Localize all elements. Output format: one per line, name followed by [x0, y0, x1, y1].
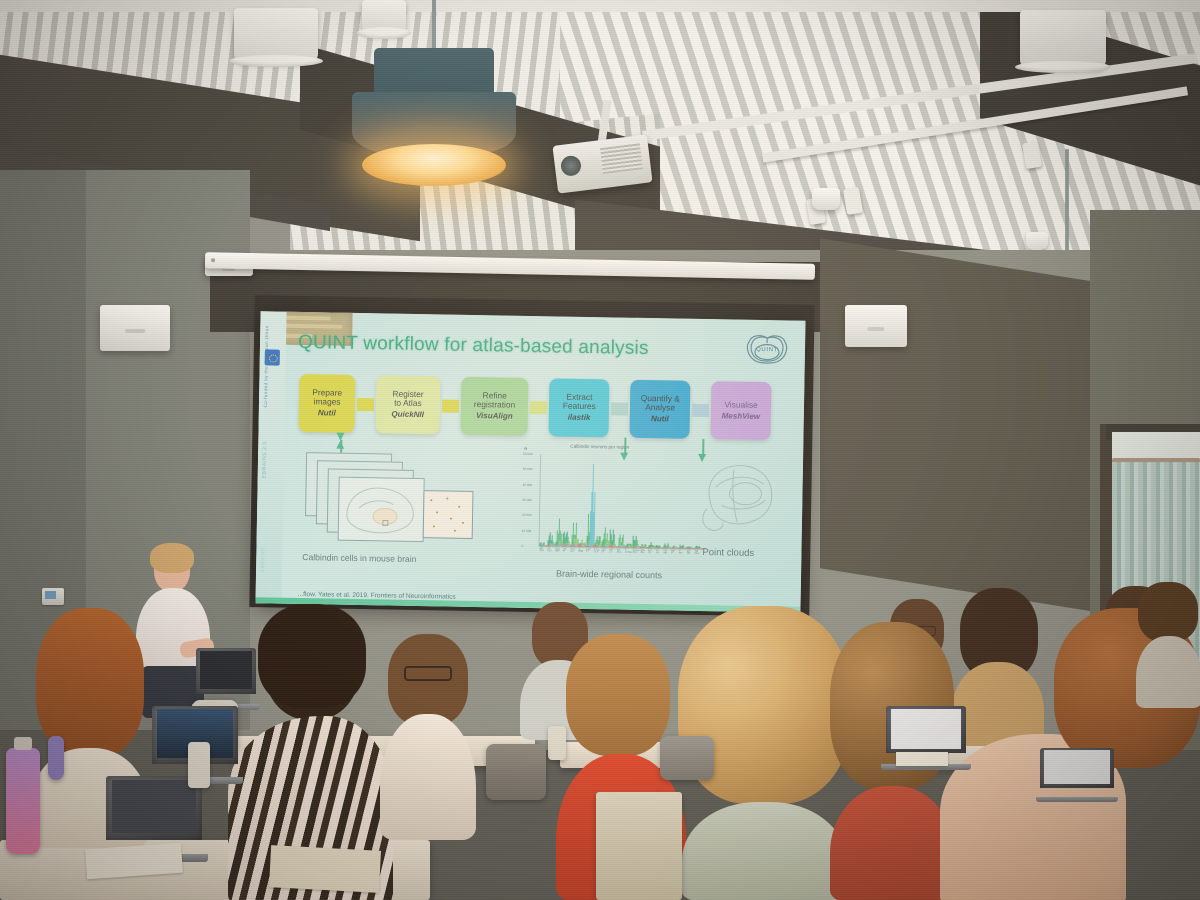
chart-x-tick-label: SSCA1 [547, 548, 552, 552]
workflow-arrow-4 [611, 402, 628, 415]
chart-x-tick-label: THHY [656, 550, 659, 554]
workflow-arrow-2 [442, 399, 459, 412]
pendant-lamp-left [352, 48, 516, 188]
chart-bar [596, 545, 597, 547]
torso [380, 714, 476, 840]
projector-lens [560, 155, 582, 177]
paper-sheet-2 [269, 845, 381, 893]
audience-member-edge-right [1136, 588, 1200, 708]
regional-counts-chart: n Calbindin neurons per region 010 00020… [524, 452, 706, 567]
chair-right [660, 736, 714, 780]
chart-x-tick-label: STRPAL [640, 550, 645, 554]
lamp-glow [362, 144, 506, 186]
right-panel-caption: Point clouds [702, 547, 754, 559]
quint-logo-text: QUINT [743, 347, 791, 354]
chart-bar [558, 546, 559, 547]
wall-dark-side-panel [820, 238, 1120, 616]
left-panel-caption: Calbindin cells in mouse brain [302, 552, 416, 564]
zoom-inset-cells [423, 490, 474, 539]
hair [566, 634, 670, 756]
water-bottle-purple[interactable] [6, 748, 40, 854]
cup-white-2[interactable] [548, 726, 566, 760]
chart-y-tick-label: 0 [522, 544, 524, 548]
chart-x-tick-label: PCTXsp [625, 550, 632, 554]
step-label-line2: images [313, 397, 340, 407]
chart-y-tick-label: 40 000 [523, 483, 533, 487]
chart-title: Calbindin neurons per region [570, 444, 629, 450]
chart-bar [627, 546, 628, 547]
wall-speaker-right [845, 305, 907, 347]
ebrains-brand-text-2: EBRAINS [260, 547, 266, 572]
brain-3d-outline [693, 451, 781, 544]
chart-bar [666, 548, 667, 549]
chart-bar [573, 545, 574, 547]
ceiling-beam-top [0, 0, 1200, 12]
chair-mid [486, 744, 546, 800]
ceiling-downlight-small [362, 0, 406, 34]
chart-x-tick-label: MBP [671, 550, 675, 554]
downlight-rim [357, 27, 411, 39]
audience-member-glasses [380, 640, 476, 840]
ceiling-downlight-far-2 [1026, 232, 1048, 250]
chart-bar [674, 548, 675, 549]
chart-x-tick-label: CTXspSTR [633, 550, 640, 554]
workflow-step-6: VisualiseMeshView [711, 381, 772, 440]
hair [1138, 582, 1198, 642]
projector-vent [600, 143, 643, 174]
chart-bar [635, 547, 636, 548]
workflow-step-3: RefineregistrationVisuAlign [460, 377, 529, 436]
chart-y-tick-label: 50 000 [523, 467, 533, 471]
chart-bar [565, 546, 566, 547]
chart-caption: Brain-wide regional counts [556, 568, 662, 580]
projection-screen: Co-funded by the European Union EBRAINS … [255, 311, 805, 612]
chart-bar [620, 547, 621, 548]
paper-sheet-3 [896, 752, 948, 766]
slide-sidebar: Co-funded by the European Union EBRAINS … [255, 311, 286, 603]
chart-x-tick-label: PALTH [648, 550, 652, 554]
chart-x-tick-label: CBfiber [695, 551, 700, 555]
workflow-diagram: PrepareimagesNutilRegisterto AtlasQuickN… [298, 374, 771, 440]
step-tool-name: VisuAlign [476, 412, 513, 421]
chart-x-tick-label: PMY [679, 551, 683, 555]
chart-x-tick-label: PTLpCLA [594, 549, 600, 553]
chart-bar [658, 548, 659, 549]
ceiling-downlight-left [234, 8, 318, 62]
step-tool-name: Nutil [318, 410, 336, 419]
torso [682, 802, 846, 900]
chart-y-tick-label: 30 000 [522, 498, 532, 502]
workflow-step-4: ExtractFeaturesilastik [549, 378, 610, 437]
chart-x-tick-label: AUDRSP [555, 548, 560, 552]
funding-text: Co-funded by the European Union [263, 325, 269, 407]
step-label-line2: to Atlas [394, 399, 422, 409]
tote-bag [596, 792, 682, 900]
slide-title: QUINT workflow for atlas-based analysis [298, 332, 649, 360]
chart-bar [612, 547, 613, 548]
chart-bar [643, 547, 644, 548]
wall-control-panel[interactable] [42, 588, 64, 605]
hair [258, 604, 366, 708]
laptop-lid [886, 706, 966, 753]
chart-x-tick-label: HYMB [664, 550, 668, 554]
chart-bar [689, 548, 690, 549]
bottle-cap [14, 737, 32, 750]
brain-section-4 [338, 477, 425, 542]
step-tool-name: ilastik [568, 414, 591, 423]
downlight-rim [1015, 61, 1111, 73]
chart-x-tick-label: MYBLA [617, 550, 621, 554]
point-cloud-render [693, 451, 781, 544]
chart-bar [682, 548, 683, 549]
presenter-hair [150, 543, 194, 573]
ceiling-downlight-right [1020, 10, 1106, 68]
chart-bar [589, 546, 590, 547]
presentation-slide: Co-funded by the European Union EBRAINS … [255, 311, 805, 612]
chart-x-tick-label: VISPL [563, 549, 567, 553]
eyeglasses-icon [404, 666, 452, 681]
chart-x-tick-label: AIORB [578, 549, 583, 553]
step-label-line1: Visualise [724, 400, 758, 410]
step-tool-name: MeshView [722, 412, 761, 421]
torso [1136, 636, 1200, 708]
workflow-step-5: Quantify &AnalyseNutil [630, 380, 691, 439]
chart-y-tick-label: 20 000 [522, 513, 532, 517]
torso [830, 786, 954, 900]
water-bottle-small[interactable] [48, 736, 64, 780]
step-label-line2: Features [563, 402, 596, 412]
workflow-arrow-3 [530, 400, 547, 413]
chart-x-tick-label: MBLA [609, 549, 613, 553]
chart-x-tick-label: RSPTT [586, 549, 591, 553]
workflow-arrow-5 [692, 403, 709, 416]
chart-bar [550, 546, 551, 547]
brain-section-stack [305, 452, 457, 545]
ebrains-brand-text: EBRAINS 2.0 [262, 441, 269, 478]
photo-scene: Co-funded by the European Union EBRAINS … [0, 0, 1200, 900]
chart-x-tick-label: MOHPF [539, 548, 544, 552]
laptop-lid [1040, 748, 1114, 788]
lamp-shade-top [374, 48, 494, 96]
chart-bar [604, 546, 605, 547]
chart-bar [651, 547, 652, 548]
step-label-line2: registration [474, 400, 516, 410]
workflow-arrow-1 [357, 397, 374, 410]
chart-x-tick-label: OLFEP [602, 549, 607, 553]
step-label-line2: Analyse [645, 403, 675, 413]
wall-speaker-left [100, 305, 170, 351]
chart-x-tick-label: ACAILA [570, 549, 575, 553]
brain-section-outline [339, 478, 424, 541]
chart-bar [581, 545, 582, 547]
laptop-base [1036, 797, 1119, 802]
chart-y-title: n [524, 446, 527, 451]
cup-white[interactable] [188, 742, 210, 788]
workflow-step-2: Registerto AtlasQuickNII [375, 375, 440, 434]
chart-bar [697, 548, 698, 549]
control-panel-display [45, 591, 56, 599]
ceiling-downlight-far [812, 188, 840, 210]
chart-y-tick-label: 10 000 [522, 529, 532, 533]
chart-x-tick-label: MYCB [687, 551, 691, 555]
quint-logo-icon: QUINT [743, 333, 792, 368]
chart-bars [540, 454, 705, 549]
chart-y-tick-label: 60 000 [523, 452, 533, 456]
lamp-cord [432, 0, 436, 50]
downlight-rim [229, 55, 323, 67]
laptop-far-right[interactable] [1040, 748, 1114, 802]
workflow-step-1: PrepareimagesNutil [298, 374, 355, 433]
step-tool-name: Nutil [651, 415, 669, 424]
step-tool-name: QuickNII [391, 411, 424, 420]
